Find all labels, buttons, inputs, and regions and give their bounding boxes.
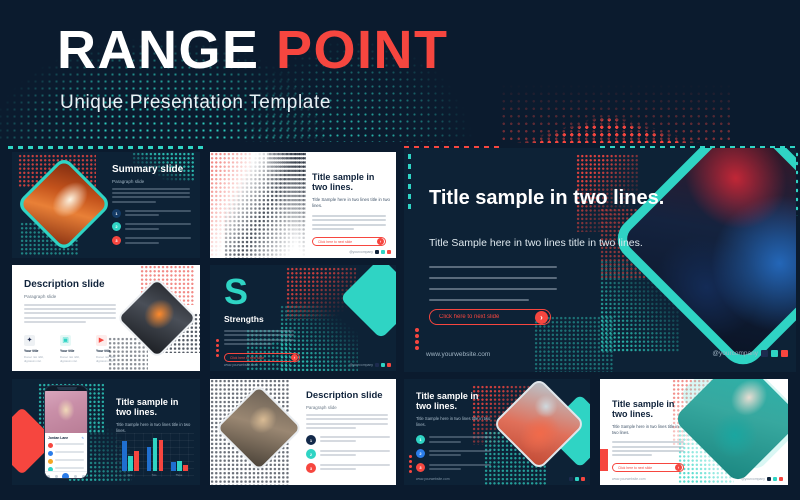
bullet-text <box>429 435 492 445</box>
feature-next-slide-button[interactable]: Click here to next slide › <box>429 309 551 325</box>
phone-fab[interactable] <box>62 473 69 480</box>
instagram-icon <box>375 363 379 367</box>
light-subtitle: Title Sample here in two lines title in … <box>312 197 390 210</box>
bullet-text <box>125 222 192 232</box>
bullet-number: 2 <box>112 222 121 231</box>
bullet-text <box>429 449 492 459</box>
summary-photo-diamond <box>16 156 112 252</box>
girl-photo <box>45 391 87 433</box>
instagram-icon[interactable] <box>761 350 768 357</box>
twitter-icon: ✦ <box>24 335 35 346</box>
list-item[interactable]: 2 <box>306 449 390 459</box>
edit-icon[interactable]: ✎ <box>81 436 84 440</box>
canyon-photo <box>20 160 108 248</box>
list-item[interactable]: 1 <box>416 435 492 445</box>
description-photo-diamond <box>116 277 198 359</box>
slide-thumbnail-skate[interactable]: Title sample in two lines. Title Sample … <box>600 379 788 485</box>
light-handle: @yourcompany <box>349 250 391 254</box>
phone-notch <box>57 387 77 390</box>
list-item[interactable] <box>48 459 84 464</box>
flamingo-socials <box>569 477 585 481</box>
light-body <box>312 215 390 230</box>
instagram-icon <box>767 477 771 481</box>
facebook-icon <box>387 363 391 367</box>
skate-handle: @yourcompany <box>741 477 783 481</box>
summary-title: Summary slide <box>112 164 192 176</box>
chevron-right-icon: › <box>291 354 298 361</box>
bullet-number: 3 <box>306 463 316 473</box>
feature-slide[interactable]: Title sample in two lines. Title Sample … <box>404 148 796 372</box>
strengths-title: Strengths <box>224 315 300 325</box>
list-item[interactable]: 3 <box>306 463 390 473</box>
chart-group <box>171 461 188 471</box>
feature-handle: @yourcompany <box>712 350 788 357</box>
hero-red-triangle-halftone <box>508 86 708 143</box>
facebook-icon <box>779 477 783 481</box>
info-card[interactable]: ✦ Your title Donec nisi nibh, dignissim … <box>24 335 50 363</box>
skate-title: Title sample in two lines. <box>612 399 686 420</box>
phone-tabbar[interactable] <box>45 471 87 479</box>
bullet-text <box>429 463 492 473</box>
bar-chart: One Two Three <box>116 433 194 477</box>
list-item[interactable]: 1 <box>306 435 390 445</box>
skate-next-slide-button[interactable]: Click here to next slide › <box>612 463 684 472</box>
summary-subtitle: Paragraph slide <box>112 179 192 184</box>
cat-photo-diamond <box>215 384 303 472</box>
facebook-icon <box>387 250 391 254</box>
presentation-preview-canvas: RANGE POINT Unique Presentation Template… <box>0 0 800 500</box>
feature-dot-column <box>415 328 419 350</box>
hero-title-accent: POINT <box>276 20 449 80</box>
feature-subtitle: Title Sample here in two lines title in … <box>429 236 643 251</box>
flamingo-url[interactable]: www.yourwebsite.com <box>416 477 450 481</box>
description-card-row: ✦ Your title Donec nisi nibh, dignissim … <box>24 335 122 363</box>
flamingo-subtitle: Title Sample here in two lines title in … <box>416 416 492 429</box>
chart-x-tick-labels: One Two Three <box>118 474 192 477</box>
info-card[interactable]: ▣ Your title Donec nisi nibh, dignissim … <box>60 335 86 363</box>
feature-button-label: Click here to next slide <box>439 314 499 320</box>
strengths-dot-column <box>216 339 219 357</box>
list-item[interactable]: 2 <box>112 222 192 232</box>
list-item[interactable]: 3 <box>416 463 492 473</box>
flamingo-title: Title sample in two lines. <box>416 391 492 412</box>
bullet-number: 1 <box>112 209 121 218</box>
strengths-teal-diamond <box>340 265 396 339</box>
cat-bullet-list: 1 2 3 <box>306 435 390 473</box>
bullet-number: 3 <box>416 463 425 472</box>
hero-banner: RANGE POINT Unique Presentation Template <box>0 0 800 143</box>
card-label: Your title <box>24 349 50 353</box>
twitter-icon <box>773 477 777 481</box>
list-item[interactable] <box>48 443 84 448</box>
summary-body <box>112 188 192 203</box>
skate-url[interactable]: www.yourwebsite.com <box>612 477 646 481</box>
slide-thumbnail-description[interactable]: Description slide Paragraph slide ✦ Your… <box>12 265 200 371</box>
skate-body <box>612 441 686 456</box>
strengths-body <box>224 330 296 345</box>
bullet-text <box>320 435 390 445</box>
slide-thumbnail-flamingo[interactable]: Title sample in two lines. Title Sample … <box>404 379 590 485</box>
chart-plot-area <box>118 437 192 471</box>
bullet-number: 2 <box>416 449 425 458</box>
bullet-number: 1 <box>306 435 316 445</box>
hero-subtitle: Unique Presentation Template <box>60 92 331 114</box>
chevron-right-icon: › <box>675 464 682 471</box>
slide-thumbnail-title-light[interactable]: Title sample in two lines. Title Sample … <box>210 152 396 258</box>
strengths-url[interactable]: www.yourwebsite.com <box>224 363 258 367</box>
card-label: Your title <box>60 349 86 353</box>
flamingo-dot-column <box>409 455 412 473</box>
instagram-icon: ▣ <box>60 335 71 346</box>
hero-title-primary: RANGE <box>57 20 260 80</box>
strengths-letter: S <box>224 275 300 309</box>
bullet-text <box>125 209 192 219</box>
instagram-icon <box>375 250 379 254</box>
feature-body <box>429 266 559 303</box>
portrait-photo <box>621 148 796 361</box>
chart-group <box>147 438 164 471</box>
light-pink-halftone <box>210 152 252 258</box>
info-card[interactable]: ▶ Your title Donec nisi nibh, dignissim … <box>96 335 122 363</box>
feature-url[interactable]: www.yourwebsite.com <box>426 351 490 358</box>
chevron-right-icon: › <box>377 238 384 245</box>
bullet-number: 3 <box>112 236 121 245</box>
feature-title: Title sample in two lines. <box>429 186 664 210</box>
summary-bullet-list: 1 2 3 <box>112 209 192 246</box>
strengths-next-slide-button[interactable]: Click here to next slide › <box>224 353 300 362</box>
card-label: Your title <box>96 349 122 353</box>
feature-handle-label: @yourcompany <box>712 350 758 357</box>
slide-thumbnail-summary[interactable]: Summary slide Paragraph slide 1 2 3 <box>12 152 200 258</box>
feature-photo-diamond <box>609 148 796 372</box>
list-item[interactable]: 1 <box>112 209 192 219</box>
astronaut-photo <box>119 280 195 356</box>
bullet-text <box>320 463 390 473</box>
skate-subtitle: Title Sample here in two lines title in … <box>612 424 686 437</box>
description-title: Description slide <box>24 279 120 291</box>
strengths-handle: @yourcompany <box>349 363 391 367</box>
list-item[interactable] <box>48 451 84 456</box>
chart-group <box>122 441 139 471</box>
facebook-icon[interactable] <box>781 350 788 357</box>
cat-photo <box>218 387 300 469</box>
cat-subtitle: Paragraph slide <box>306 405 390 410</box>
hero-title: RANGE POINT <box>57 23 449 77</box>
slide-thumbnail-description-cat[interactable]: Description slide Paragraph slide 1 2 3 <box>210 379 396 485</box>
card-caption: Donec nisi nibh, dignissim nisl. <box>96 355 122 363</box>
flamingo-bullet-list: 1 2 3 <box>416 435 492 472</box>
bullet-text <box>320 449 390 459</box>
phone-mockup: Jordan Lane ✎ <box>44 385 88 479</box>
youtube-icon: ▶ <box>96 335 107 346</box>
mobile-title: Title sample in two lines. <box>116 397 192 418</box>
chevron-right-icon[interactable]: › <box>535 311 548 324</box>
facebook-icon <box>581 477 585 481</box>
dash-strip-left <box>8 146 208 149</box>
cat-body <box>306 414 390 429</box>
cat-title: Description slide <box>306 391 390 402</box>
list-item[interactable]: 3 <box>112 236 192 246</box>
card-caption: Donec nisi nibh, dignissim nisl. <box>24 355 50 363</box>
instagram-icon <box>569 477 573 481</box>
phone-app-title: Jordan Lane <box>48 436 68 440</box>
slide-thumbnail-strengths[interactable]: S Strengths Click here to next slide › w… <box>210 265 396 371</box>
description-body <box>24 304 120 324</box>
twitter-icon <box>575 477 579 481</box>
twitter-icon[interactable] <box>771 350 778 357</box>
feature-left-dash <box>408 154 411 214</box>
list-item[interactable]: 2 <box>416 449 492 459</box>
bullet-text <box>125 236 192 246</box>
bullet-number: 2 <box>306 449 316 459</box>
skate-red-tab <box>600 449 608 471</box>
light-next-slide-button[interactable]: Click here to next slide › <box>312 237 386 246</box>
card-caption: Donec nisi nibh, dignissim nisl. <box>60 355 86 363</box>
light-title: Title sample in two lines. <box>312 172 390 193</box>
twitter-icon <box>381 363 385 367</box>
bullet-number: 1 <box>416 435 425 444</box>
slide-thumbnail-mobile-chart[interactable]: Jordan Lane ✎ <box>12 379 200 485</box>
description-subtitle: Paragraph slide <box>24 294 120 299</box>
twitter-icon <box>381 250 385 254</box>
